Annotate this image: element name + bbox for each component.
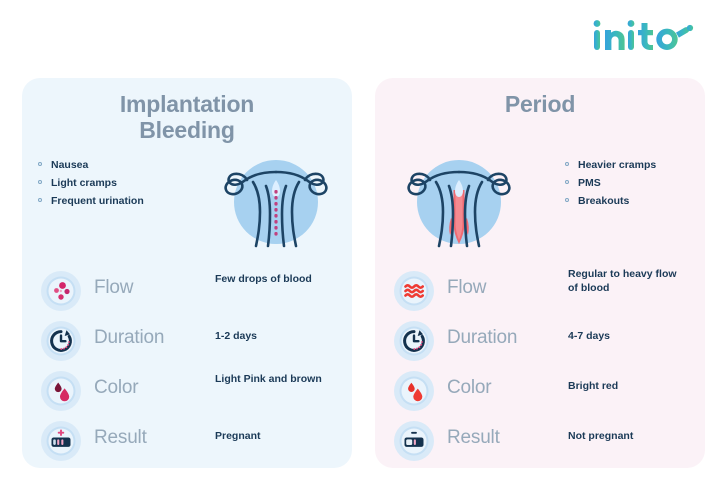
table-row: FlowFew drops of blood (22, 266, 352, 316)
top-section-implantation-bleeding: NauseaLight crampsFrequent urination (22, 158, 352, 258)
card-title-line1: Period (505, 91, 575, 117)
attribute-rows-implantation-bleeding: FlowFew drops of bloodDuration1-2 daysCo… (22, 266, 352, 466)
card-title-line2: Bleeding (139, 117, 235, 143)
brand-logo (588, 14, 698, 58)
clock-dotted-icon (393, 320, 435, 362)
row-label-color: Color (447, 377, 491, 399)
row-value-color: Bright red (568, 380, 686, 394)
row-label-duration: Duration (447, 327, 517, 349)
list-item: Breakouts (565, 194, 695, 208)
card-implantation-bleeding: ImplantationBleedingNauseaLight crampsFr… (22, 78, 352, 468)
row-value-result: Not pregnant (568, 430, 686, 444)
row-label-color: Color (94, 377, 138, 399)
two-drops-icon (40, 370, 82, 412)
uterus-period-icon (389, 146, 529, 258)
row-label-result: Result (94, 427, 147, 449)
list-item: Light cramps (38, 176, 168, 190)
pregnancy-test-positive-icon (40, 420, 82, 462)
row-label-flow: Flow (447, 277, 486, 299)
uterus-implantation-icon (206, 146, 346, 258)
table-row: FlowRegular to heavy flow of blood (375, 266, 705, 316)
table-row: Duration1-2 days (22, 316, 352, 366)
symptom-list-period: Heavier crampsPMSBreakouts (565, 158, 695, 213)
red-drops-icon (393, 370, 435, 412)
row-value-color: Light Pink and brown (215, 373, 333, 387)
card-period: PeriodHeavier crampsPMSBreakoutsFlowRegu… (375, 78, 705, 468)
list-item: PMS (565, 176, 695, 190)
card-title-implantation-bleeding: ImplantationBleeding (52, 78, 322, 144)
clock-dotted-icon (40, 320, 82, 362)
row-value-result: Pregnant (215, 430, 333, 444)
attribute-rows-period: FlowRegular to heavy flow of bloodDurati… (375, 266, 705, 466)
table-row: Duration4-7 days (375, 316, 705, 366)
table-row: ColorBright red (375, 366, 705, 416)
list-item: Nausea (38, 158, 168, 172)
row-label-result: Result (447, 427, 500, 449)
table-row: ResultNot pregnant (375, 416, 705, 466)
row-value-flow: Few drops of blood (215, 273, 333, 287)
list-item: Frequent urination (38, 194, 168, 208)
table-row: ColorLight Pink and brown (22, 366, 352, 416)
row-label-flow: Flow (94, 277, 133, 299)
row-value-duration: 4-7 days (568, 330, 686, 344)
blood-drops-scattered-icon (40, 270, 82, 312)
card-title-period: Period (405, 78, 675, 118)
row-label-duration: Duration (94, 327, 164, 349)
wavy-flow-lines-icon (393, 270, 435, 312)
list-item: Heavier cramps (565, 158, 695, 172)
card-title-line1: Implantation (120, 91, 254, 117)
inito-logo-icon (588, 14, 698, 58)
row-value-duration: 1-2 days (215, 330, 333, 344)
row-value-flow: Regular to heavy flow of blood (568, 268, 686, 296)
pregnancy-test-negative-icon (393, 420, 435, 462)
table-row: ResultPregnant (22, 416, 352, 466)
symptom-list-implantation-bleeding: NauseaLight crampsFrequent urination (38, 158, 168, 213)
top-section-period: Heavier crampsPMSBreakouts (375, 158, 705, 258)
